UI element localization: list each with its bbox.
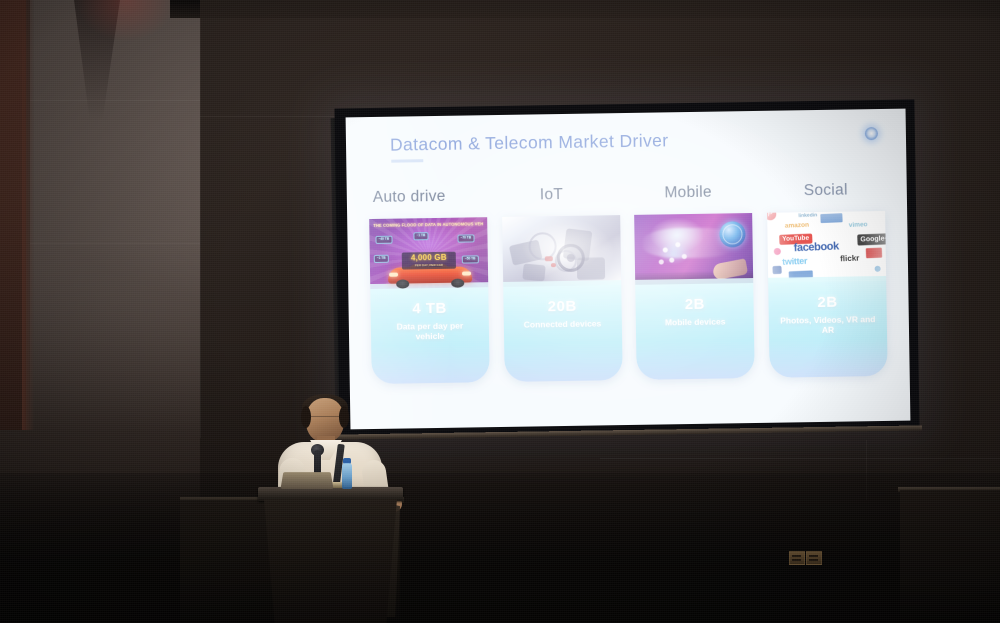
projection-screen: Datacom & Telecom Market Driver Auto dri… <box>334 99 919 438</box>
data-chip: ~1 TB <box>413 232 428 240</box>
stat-card: linkedin amazon vimeo YouTube Google+ fa… <box>767 211 888 378</box>
screen-surface: Datacom & Telecom Market Driver Auto dri… <box>346 109 911 430</box>
card-stat-description: Data per day per vehicle <box>382 320 478 343</box>
data-volume-value: 4,000 GB <box>411 254 447 263</box>
iot-collage <box>502 215 621 287</box>
wall-panel-seam <box>600 458 1000 459</box>
car-wheel <box>396 279 409 288</box>
wall-panel-seam <box>30 100 200 101</box>
wall-corner-seam <box>200 18 201 438</box>
card-stat-value: 20B <box>548 299 577 316</box>
data-chip: ~40 TB <box>375 236 392 244</box>
wall-panel-seam <box>200 116 340 117</box>
brand-logo-icon <box>865 127 878 140</box>
stat-card: THE COMING FLOOD OF DATA IN AUTONOMOUS V… <box>369 217 490 384</box>
conference-room-photo: Datacom & Telecom Market Driver Auto dri… <box>0 0 1000 623</box>
card-stat-description: Connected devices <box>524 318 602 330</box>
presentation-slide: Datacom & Telecom Market Driver Auto dri… <box>346 109 911 430</box>
card-stat-description: Mobile devices <box>665 316 726 328</box>
slide-column-mobile: Mobile <box>634 183 756 415</box>
collage-overexposure <box>767 211 886 283</box>
laptop <box>281 472 334 489</box>
card-stat-description: Photos, Videos, VR and AR <box>780 314 876 337</box>
column-heading: Social <box>767 181 885 213</box>
slide-column-social: Social linkedin amazon vimeo YouTube Goo… <box>767 181 889 413</box>
floor-shadow-band <box>0 473 1000 623</box>
card-stat-value: 2B <box>817 295 837 312</box>
card-stat-value: 4 TB <box>412 301 447 318</box>
overexposure-bloom <box>502 215 621 287</box>
car-headlight <box>462 271 471 275</box>
auto-drive-infographic: THE COMING FLOOD OF DATA IN AUTONOMOUS V… <box>369 217 488 289</box>
column-heading: Mobile <box>634 183 752 215</box>
data-volume-unit: PER DAY, PER CAR <box>415 263 443 267</box>
card-image-iot <box>502 215 621 287</box>
social-logo-collage: linkedin amazon vimeo YouTube Google+ fa… <box>767 211 886 283</box>
card-stat-body: 20B Connected devices <box>503 280 623 382</box>
side-cabinet <box>900 490 1000 623</box>
wall-pillar-left-shade <box>22 0 34 430</box>
warm-ceiling-glow <box>76 0 176 42</box>
card-stat-body: 2B Photos, Videos, VR and AR <box>768 276 888 378</box>
slide-title: Datacom & Telecom Market Driver <box>390 130 669 155</box>
water-bottle <box>342 463 352 489</box>
card-image-autonomous-vehicle: THE COMING FLOOD OF DATA IN AUTONOMOUS V… <box>369 217 488 289</box>
title-accent-underline <box>391 159 423 163</box>
card-stat-body: 2B Mobile devices <box>635 278 755 380</box>
mobile-network-graphic <box>634 213 753 285</box>
column-heading: IoT <box>501 185 619 217</box>
power-outlet <box>806 551 822 565</box>
lectern-front-panel <box>264 499 397 623</box>
card-stat-value: 2B <box>685 297 705 314</box>
card-stat-body: 4 TB Data per day per vehicle <box>370 282 490 384</box>
wall-panel-seam <box>30 243 200 244</box>
slide-columns: Auto drive THE COMING FLOOD OF DATA IN A… <box>369 181 889 419</box>
data-volume-plate: 4,000 GB PER DAY, PER CAR <box>402 252 456 270</box>
stat-card: 2B Mobile devices <box>634 213 755 380</box>
card-image-mobile <box>634 213 753 285</box>
car-headlight <box>389 273 398 277</box>
data-chip: ~70 TB <box>457 234 474 242</box>
lectern-top-surface <box>258 487 403 501</box>
lectern <box>258 487 403 623</box>
slide-column-iot: IoT <box>501 185 623 417</box>
presenter-glasses <box>308 416 342 424</box>
globe-icon <box>720 221 746 247</box>
column-heading: Auto drive <box>369 187 487 219</box>
card-image-social: linkedin amazon vimeo YouTube Google+ fa… <box>767 211 886 283</box>
slide-column-auto-drive: Auto drive THE COMING FLOOD OF DATA IN A… <box>369 187 491 419</box>
wall-light-panel <box>30 0 200 430</box>
car-wheel <box>451 279 464 288</box>
network-node-cluster <box>653 236 696 271</box>
stat-card: 20B Connected devices <box>502 215 623 382</box>
power-outlet <box>789 551 805 565</box>
